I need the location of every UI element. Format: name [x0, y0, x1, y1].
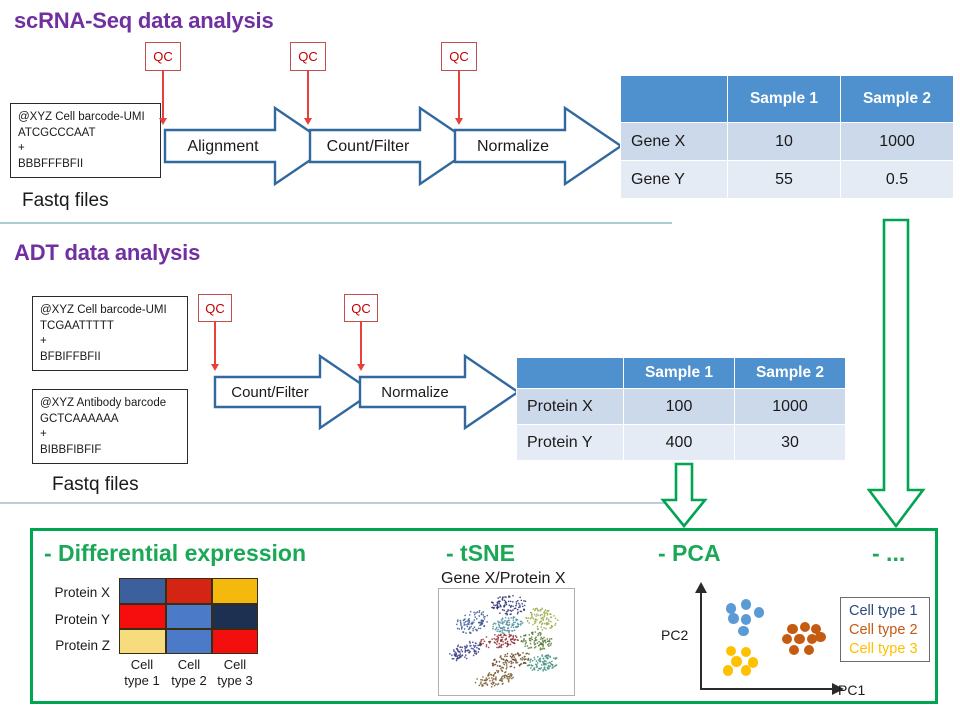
pca-point	[815, 632, 825, 642]
heatmap-col-label-line: type 2	[164, 673, 214, 689]
pca-point	[800, 622, 810, 632]
table-row-label: Protein X	[517, 389, 624, 425]
process-arrow-label: Count/Filter	[327, 138, 410, 155]
heatmap-col-label-line: type 1	[117, 673, 167, 689]
fastq-line: BFBIFFBFII	[40, 350, 180, 366]
scrna-fastq-box: @XYZ Cell barcode-UMI ATCGCCCAAT + BBBFF…	[10, 103, 161, 178]
pca-point	[754, 607, 764, 617]
qc-badge-adt-normalize[interactable]: QC	[344, 294, 378, 322]
heatmap-col-label-line: Cell	[117, 657, 167, 673]
qc-badge-alignment[interactable]: QC	[145, 42, 181, 71]
scrna-section-title: scRNA-Seq data analysis	[14, 8, 274, 34]
fastq-line: @XYZ Cell barcode-UMI	[18, 110, 153, 126]
process-arrow-label: Normalize	[477, 138, 549, 155]
heatmap-row-label: Protein X	[38, 585, 110, 600]
pca-point	[741, 599, 751, 609]
results-heading-more: - ...	[872, 540, 905, 567]
heatmap-col-label: Cell type 1	[117, 657, 167, 689]
pca-point	[728, 613, 738, 623]
table-cell: 55	[728, 161, 841, 199]
pca-x-axis-label: PC1	[838, 682, 865, 698]
pca-legend-item: Cell type 2	[849, 621, 921, 640]
fastq-line: @XYZ Cell barcode-UMI	[40, 303, 180, 319]
results-heading-tsne: - tSNE	[446, 540, 515, 567]
pca-point	[794, 634, 804, 644]
pca-point	[723, 665, 733, 675]
table-cell: 30	[735, 425, 846, 461]
process-arrow-label: Count/Filter	[231, 384, 309, 401]
tsne-subtitle: Gene X/Protein X	[441, 570, 566, 588]
qc-badge-adt-count-filter[interactable]: QC	[198, 294, 232, 322]
table-row-label: Gene Y	[621, 161, 728, 199]
table-cell: 100	[624, 389, 735, 425]
table-header-row: Sample 1 Sample 2	[621, 76, 954, 123]
adt-section-title: ADT data analysis	[14, 240, 200, 266]
tsne-scatter-canvas	[439, 589, 574, 695]
heatmap-col-label: Cell type 3	[210, 657, 260, 689]
connector-arrow-adt-to-results	[660, 462, 708, 530]
pca-point	[789, 645, 799, 655]
results-heading-differential-expression: - Differential expression	[44, 540, 306, 567]
fastq-line: +	[40, 334, 180, 350]
table-row-label: Protein Y	[517, 425, 624, 461]
table-row-label: Gene X	[621, 123, 728, 161]
process-arrow-label: Alignment	[187, 138, 259, 155]
tsne-cluster	[453, 607, 491, 637]
tsne-cluster	[519, 630, 553, 652]
heatmap-cell	[166, 578, 212, 604]
tsne-cluster	[473, 667, 515, 690]
table-row: Protein X 100 1000	[517, 389, 846, 425]
adt-fastq-box-antibody: @XYZ Antibody barcode GCTCAAAAAA + BIBBF…	[32, 389, 188, 464]
process-arrow-label: Normalize	[381, 384, 449, 401]
table-row: Protein Y 400 30	[517, 425, 846, 461]
table-corner-cell	[517, 358, 624, 389]
fastq-line: +	[18, 141, 153, 157]
pca-scatter-area	[700, 588, 840, 690]
heatmap-cell	[119, 629, 166, 654]
fastq-line: BBBFFFBFII	[18, 157, 153, 173]
pca-point	[782, 634, 792, 644]
heatmap-cell	[212, 604, 258, 629]
pca-legend-item: Cell type 3	[849, 640, 921, 659]
process-arrow-adt-normalize: Normalize	[358, 351, 520, 433]
process-arrow-normalize: Normalize	[453, 103, 623, 189]
scrna-expression-table: Sample 1 Sample 2 Gene X 10 1000 Gene Y …	[620, 75, 954, 199]
heatmap-col-label-line: type 3	[210, 673, 260, 689]
table-cell: 400	[624, 425, 735, 461]
fastq-line: TCGAATTTTT	[40, 319, 180, 335]
fastq-line: @XYZ Antibody barcode	[40, 396, 180, 412]
adt-expression-table: Sample 1 Sample 2 Protein X 100 1000 Pro…	[516, 357, 846, 461]
table-col-header: Sample 2	[735, 358, 846, 389]
pca-legend: Cell type 1 Cell type 2 Cell type 3	[840, 597, 930, 662]
pca-point	[726, 646, 736, 656]
heatmap-cell	[119, 604, 166, 629]
adt-fastq-box-cell: @XYZ Cell barcode-UMI TCGAATTTTT + BFBIF…	[32, 296, 188, 371]
pca-point	[741, 665, 751, 675]
pca-point	[738, 626, 748, 636]
fastq-line: GCTCAAAAAA	[40, 412, 180, 428]
qc-badge-count-filter[interactable]: QC	[290, 42, 326, 71]
pca-point	[787, 624, 797, 634]
tsne-cluster	[491, 595, 526, 616]
pca-point	[741, 647, 751, 657]
fastq-line: ATCGCCCAAT	[18, 126, 153, 142]
process-arrow-adt-count-filter: Count/Filter	[213, 351, 375, 433]
pca-legend-item: Cell type 1	[849, 602, 921, 621]
heatmap-col-label: Cell type 2	[164, 657, 214, 689]
table-cell: 1000	[841, 123, 954, 161]
heatmap-row-label: Protein Y	[38, 612, 110, 627]
table-cell: 10	[728, 123, 841, 161]
heatmap-cell	[119, 578, 166, 604]
pca-point	[731, 656, 741, 666]
pca-point	[741, 614, 751, 624]
tsne-plot	[438, 588, 575, 696]
heatmap-cell	[212, 629, 258, 654]
table-col-header: Sample 1	[624, 358, 735, 389]
heatmap-cell	[166, 604, 212, 629]
tsne-cluster	[524, 605, 561, 633]
connector-arrow-scrna-to-results	[867, 218, 927, 530]
table-header-row: Sample 1 Sample 2	[517, 358, 846, 389]
pca-point	[804, 645, 814, 655]
table-row: Gene Y 55 0.5	[621, 161, 954, 199]
section-divider-2	[0, 502, 672, 504]
heatmap-col-label-line: Cell	[164, 657, 214, 673]
adt-fastq-caption: Fastq files	[52, 474, 139, 496]
heatmap-row-label: Protein Z	[38, 638, 110, 653]
heatmap-grid	[119, 578, 258, 654]
table-cell: 1000	[735, 389, 846, 425]
table-corner-cell	[621, 76, 728, 123]
table-col-header: Sample 1	[728, 76, 841, 123]
results-heading-pca: - PCA	[658, 540, 721, 567]
fastq-line: BIBBFIBFIF	[40, 443, 180, 459]
pca-y-axis-label: PC2	[661, 627, 688, 643]
heatmap-cell	[212, 578, 258, 604]
tsne-cluster	[479, 632, 520, 651]
scrna-fastq-caption: Fastq files	[22, 190, 109, 212]
qc-badge-normalize[interactable]: QC	[441, 42, 477, 71]
table-cell: 0.5	[841, 161, 954, 199]
pca-point	[726, 603, 736, 613]
heatmap-col-label-line: Cell	[210, 657, 260, 673]
tsne-cluster	[447, 637, 485, 665]
tsne-cluster	[525, 652, 559, 675]
tsne-cluster	[490, 648, 532, 672]
table-row: Gene X 10 1000	[621, 123, 954, 161]
table-col-header: Sample 2	[841, 76, 954, 123]
fastq-line: +	[40, 427, 180, 443]
tsne-cluster	[491, 614, 525, 635]
section-divider-1	[0, 222, 672, 224]
heatmap-cell	[166, 629, 212, 654]
